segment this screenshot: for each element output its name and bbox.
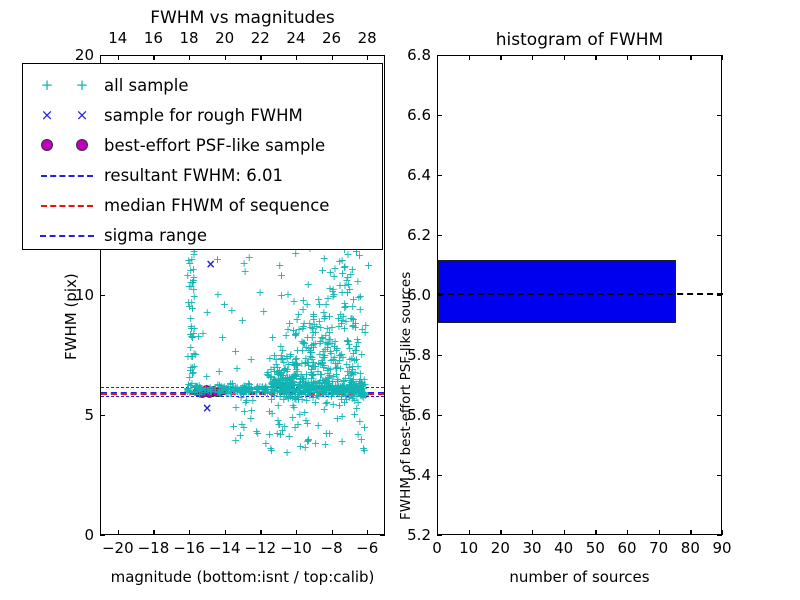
all-sample-point: + bbox=[323, 370, 332, 377]
all-sample-point: + bbox=[358, 326, 367, 333]
all-sample-point: + bbox=[308, 334, 317, 341]
all-sample-point: + bbox=[297, 360, 306, 367]
all-sample-point: + bbox=[288, 375, 297, 382]
all-sample-point: + bbox=[282, 332, 291, 339]
all-sample-point: + bbox=[292, 330, 301, 337]
all-sample-point: + bbox=[288, 373, 297, 380]
all-sample-point: + bbox=[267, 447, 276, 454]
all-sample-point: + bbox=[281, 377, 290, 384]
all-sample-point: + bbox=[350, 411, 359, 418]
legend-marker-dot-marker bbox=[32, 134, 104, 156]
all-sample-point: + bbox=[339, 378, 348, 385]
all-sample-point: + bbox=[187, 333, 196, 340]
all-sample-point: + bbox=[338, 354, 347, 361]
all-sample-point: + bbox=[275, 421, 284, 428]
all-sample-point: + bbox=[357, 380, 366, 387]
all-sample-point: + bbox=[343, 251, 352, 258]
axis-tick bbox=[659, 530, 660, 535]
axis-tick bbox=[100, 55, 105, 56]
all-sample-point: + bbox=[337, 320, 346, 327]
axis-tick bbox=[469, 530, 470, 535]
all-sample-point: + bbox=[333, 378, 342, 385]
all-sample-point: + bbox=[326, 383, 335, 390]
all-sample-point: + bbox=[299, 340, 308, 347]
all-sample-point: + bbox=[349, 296, 358, 303]
all-sample-point: + bbox=[340, 399, 349, 406]
all-sample-point: + bbox=[273, 368, 282, 375]
all-sample-point: + bbox=[351, 369, 360, 376]
all-sample-point: + bbox=[215, 382, 224, 389]
axis-tick bbox=[717, 55, 722, 56]
all-sample-point: + bbox=[279, 372, 288, 379]
axis-tick bbox=[189, 55, 190, 60]
all-sample-point: + bbox=[330, 343, 339, 350]
right-panel-xlabel: number of sources bbox=[437, 568, 722, 586]
all-sample-point: + bbox=[328, 382, 337, 389]
all-sample-point: + bbox=[350, 397, 359, 404]
all-sample-point: + bbox=[310, 363, 319, 370]
all-sample-point: + bbox=[323, 399, 332, 406]
all-sample-point: + bbox=[298, 383, 307, 390]
all-sample-point: + bbox=[325, 313, 334, 320]
axis-tick-label: 0 bbox=[34, 526, 94, 544]
all-sample-point: + bbox=[335, 282, 344, 289]
all-sample-point: + bbox=[265, 355, 274, 362]
rough-fwhm-point: × bbox=[206, 260, 216, 268]
all-sample-point: + bbox=[188, 364, 197, 371]
all-sample-point: + bbox=[184, 299, 193, 306]
axis-tick bbox=[500, 55, 501, 60]
all-sample-point: + bbox=[273, 417, 282, 424]
all-sample-point: + bbox=[288, 359, 297, 366]
all-sample-point: + bbox=[299, 306, 308, 313]
axis-tick bbox=[564, 530, 565, 535]
all-sample-point: + bbox=[227, 307, 236, 314]
all-sample-point: + bbox=[329, 356, 338, 363]
all-sample-point: + bbox=[293, 368, 302, 375]
all-sample-point: + bbox=[193, 383, 202, 390]
legend-marker-cross-marker: ×× bbox=[32, 104, 104, 126]
all-sample-point: + bbox=[247, 356, 256, 363]
all-sample-point: + bbox=[329, 286, 338, 293]
all-sample-point: + bbox=[326, 269, 335, 276]
all-sample-point: + bbox=[309, 313, 318, 320]
all-sample-point: + bbox=[330, 265, 339, 272]
all-sample-point: + bbox=[293, 347, 302, 354]
all-sample-point: + bbox=[289, 402, 298, 409]
all-sample-point: + bbox=[340, 264, 349, 271]
all-sample-point: + bbox=[215, 368, 224, 375]
plus-marker: + bbox=[76, 76, 89, 94]
all-sample-point: + bbox=[321, 400, 330, 407]
all-sample-point: + bbox=[287, 380, 296, 387]
all-sample-point: + bbox=[309, 311, 318, 318]
legend-item-label: best-effort PSF-like sample bbox=[104, 136, 325, 155]
all-sample-point: + bbox=[340, 263, 349, 270]
all-sample-point: + bbox=[215, 382, 224, 389]
all-sample-point: + bbox=[346, 379, 355, 386]
all-sample-point: + bbox=[301, 360, 310, 367]
all-sample-point: + bbox=[274, 371, 283, 378]
all-sample-point: + bbox=[213, 256, 222, 263]
all-sample-point: + bbox=[298, 325, 307, 332]
all-sample-point: + bbox=[317, 383, 326, 390]
all-sample-point: + bbox=[292, 361, 301, 368]
all-sample-point: + bbox=[356, 370, 365, 377]
axis-tick bbox=[332, 55, 333, 60]
all-sample-point: + bbox=[239, 382, 248, 389]
all-sample-point: + bbox=[274, 402, 283, 409]
all-sample-point: + bbox=[337, 351, 346, 358]
all-sample-point: + bbox=[335, 357, 344, 364]
all-sample-point: + bbox=[341, 375, 350, 382]
axis-tick bbox=[717, 175, 722, 176]
all-sample-point: + bbox=[296, 379, 305, 386]
axis-tick bbox=[717, 535, 722, 536]
axis-tick-label: 6.8 bbox=[371, 46, 431, 64]
all-sample-point: + bbox=[247, 407, 256, 414]
all-sample-point: + bbox=[302, 344, 311, 351]
all-sample-point: + bbox=[317, 334, 326, 341]
all-sample-point: + bbox=[328, 378, 337, 385]
axis-tick bbox=[100, 415, 105, 416]
all-sample-point: + bbox=[308, 372, 317, 379]
all-sample-point: + bbox=[282, 368, 291, 375]
all-sample-point: + bbox=[297, 338, 306, 345]
all-sample-point: + bbox=[268, 378, 277, 385]
all-sample-point: + bbox=[309, 380, 318, 387]
left-panel-xlabel: magnitude (bottom:isnt / top:calib) bbox=[80, 568, 405, 586]
all-sample-point: + bbox=[188, 279, 197, 286]
axis-tick-label: 90 bbox=[692, 539, 752, 557]
axis-tick-label: 5 bbox=[34, 406, 94, 424]
plot-legend: ++all sample××sample for rough FWHMbest-… bbox=[22, 63, 383, 250]
all-sample-point: + bbox=[314, 360, 323, 367]
all-sample-point: + bbox=[345, 377, 354, 384]
all-sample-point: + bbox=[298, 375, 307, 382]
all-sample-point: + bbox=[273, 380, 282, 387]
all-sample-point: + bbox=[328, 288, 337, 295]
all-sample-point: + bbox=[318, 359, 327, 366]
all-sample-point: + bbox=[285, 379, 294, 386]
all-sample-point: + bbox=[293, 316, 302, 323]
all-sample-point: + bbox=[277, 292, 286, 299]
all-sample-point: + bbox=[302, 371, 311, 378]
all-sample-point: + bbox=[304, 379, 313, 386]
all-sample-point: + bbox=[191, 382, 200, 389]
all-sample-point: + bbox=[320, 406, 329, 413]
all-sample-point: + bbox=[335, 258, 344, 265]
all-sample-point: + bbox=[281, 365, 290, 372]
all-sample-point: + bbox=[278, 376, 287, 383]
all-sample-point: + bbox=[303, 301, 312, 308]
legend-item: resultant FWHM: 6.01 bbox=[23, 160, 382, 190]
all-sample-point: + bbox=[294, 311, 303, 318]
all-sample-point: + bbox=[316, 361, 325, 368]
all-sample-point: + bbox=[343, 338, 352, 345]
histogram-axes bbox=[437, 55, 722, 535]
all-sample-point: + bbox=[321, 301, 330, 308]
all-sample-point: + bbox=[291, 331, 300, 338]
all-sample-point: + bbox=[318, 377, 327, 384]
all-sample-point: + bbox=[342, 277, 351, 284]
all-sample-point: + bbox=[277, 272, 286, 279]
all-sample-point: + bbox=[189, 266, 198, 273]
legend-item-label: resultant FWHM: 6.01 bbox=[104, 166, 283, 185]
all-sample-point: + bbox=[279, 367, 288, 374]
all-sample-point: + bbox=[315, 379, 324, 386]
all-sample-point: + bbox=[289, 298, 298, 305]
axis-tick bbox=[500, 530, 501, 535]
all-sample-point: + bbox=[270, 368, 279, 375]
all-sample-point: + bbox=[283, 449, 292, 456]
all-sample-point: + bbox=[189, 330, 198, 337]
all-sample-point: + bbox=[340, 304, 349, 311]
axis-tick bbox=[118, 530, 119, 535]
all-sample-point: + bbox=[353, 399, 362, 406]
all-sample-point: + bbox=[317, 357, 326, 364]
all-sample-point: + bbox=[329, 401, 338, 408]
all-sample-point: + bbox=[188, 334, 197, 341]
all-sample-point: + bbox=[348, 378, 357, 385]
axis-tick bbox=[225, 530, 226, 535]
all-sample-point: + bbox=[278, 372, 287, 379]
axis-tick-label: 6.4 bbox=[371, 166, 431, 184]
all-sample-point: + bbox=[311, 340, 320, 347]
axis-tick bbox=[437, 295, 442, 296]
all-sample-point: + bbox=[299, 323, 308, 330]
all-sample-point: + bbox=[189, 274, 198, 281]
all-sample-point: + bbox=[319, 309, 328, 316]
all-sample-point: + bbox=[309, 316, 318, 323]
all-sample-point: + bbox=[186, 364, 195, 371]
axis-tick bbox=[717, 355, 722, 356]
all-sample-point: + bbox=[313, 368, 322, 375]
histogram-median-line bbox=[438, 293, 723, 295]
all-sample-point: + bbox=[309, 371, 318, 378]
all-sample-point: + bbox=[266, 445, 275, 452]
sigma-range-lower-line bbox=[101, 396, 384, 397]
all-sample-point: + bbox=[185, 374, 194, 381]
all-sample-point: + bbox=[298, 347, 307, 354]
all-sample-point: + bbox=[186, 267, 195, 274]
all-sample-point: + bbox=[352, 343, 361, 350]
axis-tick bbox=[260, 530, 261, 535]
all-sample-point: + bbox=[278, 356, 287, 363]
all-sample-point: + bbox=[321, 376, 330, 383]
all-sample-point: + bbox=[287, 380, 296, 387]
all-sample-point: + bbox=[307, 354, 316, 361]
all-sample-point: + bbox=[344, 338, 353, 345]
all-sample-point: + bbox=[296, 379, 305, 386]
all-sample-point: + bbox=[293, 362, 302, 369]
axis-tick bbox=[722, 530, 723, 535]
axis-tick bbox=[437, 235, 442, 236]
all-sample-point: + bbox=[186, 367, 195, 374]
all-sample-point: + bbox=[185, 303, 194, 310]
all-sample-point: + bbox=[284, 361, 293, 368]
axis-tick bbox=[100, 295, 105, 296]
all-sample-point: + bbox=[292, 366, 301, 373]
all-sample-point: + bbox=[271, 377, 280, 384]
all-sample-point: + bbox=[275, 379, 284, 386]
all-sample-point: + bbox=[189, 277, 198, 284]
all-sample-point: + bbox=[266, 374, 275, 381]
all-sample-point: + bbox=[316, 338, 325, 345]
all-sample-point: + bbox=[184, 257, 193, 264]
all-sample-point: + bbox=[319, 362, 328, 369]
all-sample-point: + bbox=[277, 352, 286, 359]
all-sample-point: + bbox=[285, 353, 294, 360]
axis-tick bbox=[118, 55, 119, 60]
all-sample-point: + bbox=[356, 293, 365, 300]
all-sample-point: + bbox=[304, 281, 313, 288]
rough-fwhm-point: × bbox=[202, 404, 212, 412]
all-sample-point: + bbox=[289, 378, 298, 385]
all-sample-point: + bbox=[300, 340, 309, 347]
all-sample-point: + bbox=[186, 283, 195, 290]
all-sample-point: + bbox=[275, 377, 284, 384]
all-sample-point: + bbox=[220, 301, 229, 308]
all-sample-point: + bbox=[338, 270, 347, 277]
all-sample-point: + bbox=[268, 334, 277, 341]
all-sample-point: + bbox=[297, 371, 306, 378]
sigma-range-upper-line bbox=[101, 387, 384, 388]
all-sample-point: + bbox=[325, 329, 334, 336]
all-sample-point: + bbox=[354, 294, 363, 301]
all-sample-point: + bbox=[325, 374, 334, 381]
axis-tick bbox=[332, 530, 333, 535]
axis-tick bbox=[296, 55, 297, 60]
legend-item: ××sample for rough FWHM bbox=[23, 100, 382, 130]
all-sample-point: + bbox=[360, 447, 369, 454]
axis-tick bbox=[153, 55, 154, 60]
all-sample-point: + bbox=[332, 345, 341, 352]
all-sample-point: + bbox=[340, 282, 349, 289]
all-sample-point: + bbox=[356, 376, 365, 383]
all-sample-point: + bbox=[304, 436, 313, 443]
all-sample-point: + bbox=[311, 363, 320, 370]
plus-marker: + bbox=[41, 76, 54, 94]
all-sample-point: + bbox=[329, 291, 338, 298]
all-sample-point: + bbox=[289, 371, 298, 378]
dashdot-line bbox=[40, 235, 94, 237]
axis-tick bbox=[690, 55, 691, 60]
all-sample-point: + bbox=[281, 383, 290, 390]
all-sample-point: + bbox=[302, 380, 311, 387]
all-sample-point: + bbox=[309, 329, 318, 336]
all-sample-point: + bbox=[279, 359, 288, 366]
all-sample-point: + bbox=[256, 289, 265, 296]
all-sample-point: + bbox=[306, 349, 315, 356]
all-sample-point: + bbox=[296, 376, 305, 383]
all-sample-point: + bbox=[289, 361, 298, 368]
all-sample-point: + bbox=[307, 369, 316, 376]
all-sample-point: + bbox=[348, 303, 357, 310]
all-sample-point: + bbox=[265, 431, 274, 438]
all-sample-point: + bbox=[348, 323, 357, 330]
all-sample-point: + bbox=[291, 372, 300, 379]
axis-tick bbox=[225, 55, 226, 60]
all-sample-point: + bbox=[270, 382, 279, 389]
axis-tick bbox=[367, 530, 368, 535]
all-sample-point: + bbox=[317, 371, 326, 378]
all-sample-point: + bbox=[337, 413, 346, 420]
all-sample-point: + bbox=[303, 334, 312, 341]
all-sample-point: + bbox=[331, 365, 340, 372]
all-sample-point: + bbox=[355, 380, 364, 387]
all-sample-point: + bbox=[304, 362, 313, 369]
all-sample-point: + bbox=[190, 293, 199, 300]
all-sample-point: + bbox=[326, 348, 335, 355]
all-sample-point: + bbox=[334, 315, 343, 322]
all-sample-point: + bbox=[323, 341, 332, 348]
all-sample-point: + bbox=[189, 369, 198, 376]
all-sample-point: + bbox=[240, 383, 249, 390]
all-sample-point: + bbox=[240, 268, 249, 275]
all-sample-point: + bbox=[303, 359, 312, 366]
axis-tick bbox=[437, 115, 442, 116]
all-sample-point: + bbox=[336, 365, 345, 372]
all-sample-point: + bbox=[307, 349, 316, 356]
all-sample-point: + bbox=[353, 363, 362, 370]
all-sample-point: + bbox=[290, 362, 299, 369]
legend-item: sigma range bbox=[23, 220, 382, 250]
all-sample-point: + bbox=[346, 271, 355, 278]
all-sample-point: + bbox=[344, 372, 353, 379]
axis-tick bbox=[717, 235, 722, 236]
all-sample-point: + bbox=[246, 415, 255, 422]
all-sample-point: + bbox=[323, 325, 332, 332]
axis-tick bbox=[564, 55, 565, 60]
all-sample-point: + bbox=[280, 423, 289, 430]
all-sample-point: + bbox=[318, 335, 327, 342]
legend-item: ++all sample bbox=[23, 70, 382, 100]
all-sample-point: + bbox=[283, 326, 292, 333]
all-sample-point: + bbox=[311, 329, 320, 336]
all-sample-point: + bbox=[352, 347, 361, 354]
all-sample-point: + bbox=[299, 297, 308, 304]
all-sample-point: + bbox=[342, 385, 351, 392]
all-sample-point: + bbox=[322, 430, 331, 437]
all-sample-point: + bbox=[278, 427, 287, 434]
legend-marker-plus-marker: ++ bbox=[32, 74, 104, 96]
all-sample-point: + bbox=[319, 377, 328, 384]
all-sample-point: + bbox=[315, 351, 324, 358]
all-sample-point: + bbox=[187, 353, 196, 360]
all-sample-point: + bbox=[267, 373, 276, 380]
axis-tick bbox=[469, 55, 470, 60]
all-sample-point: + bbox=[213, 291, 222, 298]
all-sample-point: + bbox=[300, 320, 309, 327]
all-sample-point: + bbox=[286, 374, 295, 381]
all-sample-point: + bbox=[261, 440, 270, 447]
all-sample-point: + bbox=[186, 331, 195, 338]
all-sample-point: + bbox=[277, 372, 286, 379]
all-sample-point: + bbox=[309, 341, 318, 348]
all-sample-point: + bbox=[283, 291, 292, 298]
all-sample-point: + bbox=[331, 360, 340, 367]
legend-item: median FHWM of sequence bbox=[23, 190, 382, 220]
all-sample-point: + bbox=[280, 383, 289, 390]
all-sample-point: + bbox=[272, 361, 281, 368]
all-sample-point: + bbox=[320, 315, 329, 322]
legend-item: best-effort PSF-like sample bbox=[23, 130, 382, 160]
all-sample-point: + bbox=[323, 344, 332, 351]
all-sample-point: + bbox=[281, 375, 290, 382]
all-sample-point: + bbox=[283, 377, 292, 384]
all-sample-point: + bbox=[299, 376, 308, 383]
